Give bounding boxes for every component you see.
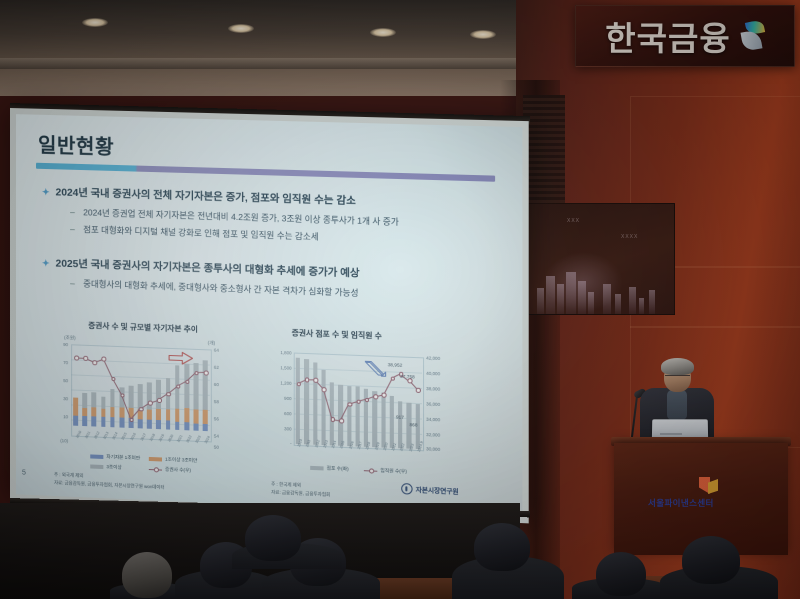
chart-bar [83, 408, 88, 416]
chart-bar [83, 416, 88, 426]
chart-bar [193, 423, 198, 430]
line-marker [348, 402, 353, 407]
legend-swatch [149, 457, 162, 462]
chart-bar [193, 410, 198, 424]
left-chart-ytick: (10) [48, 438, 68, 444]
chart-bar [304, 359, 308, 445]
left-chart-ytick-right: 62 [214, 365, 219, 370]
chart-bar [390, 395, 394, 448]
slide-title: 일반현황 [38, 129, 114, 160]
swoosh-logo-icon [739, 21, 765, 51]
right-chart-data-label: 38,952 [388, 362, 403, 368]
chart-bar [381, 392, 385, 448]
left-chart-unit-left: (조원) [64, 335, 76, 341]
right-chart-ytick: 1,200 [271, 380, 292, 386]
chart-bar [147, 410, 152, 420]
right-chart-ytick-right: 40,000 [426, 371, 440, 377]
left-chart-ytick: 90 [52, 342, 68, 348]
chart-bar [83, 393, 88, 409]
audience-head [596, 552, 646, 596]
right-chart-ytick: 1,500 [271, 365, 292, 371]
dash-bullet-icon: – [70, 278, 83, 288]
banner-title: 한국금융 [605, 12, 730, 60]
chair [370, 578, 460, 599]
ceiling-light [228, 24, 254, 33]
left-chart-ytick-right: 54 [214, 433, 219, 438]
chart-bar [73, 416, 78, 426]
chart-bar [184, 364, 189, 409]
right-chart-ytick: 900 [271, 395, 292, 401]
institute-logo-text: 자본시장연구원 [416, 485, 459, 496]
chart-bar [138, 419, 143, 428]
right-chart-ytick: 1,800 [271, 350, 292, 356]
chart-bar [166, 420, 171, 429]
legend-line-swatch [364, 470, 377, 472]
chart-bar [175, 409, 180, 422]
chart-bar [101, 409, 106, 417]
line-marker [157, 398, 162, 403]
chart-bar [138, 384, 143, 410]
chart-bar [184, 422, 189, 430]
venue-banner: 한국금융 [575, 5, 795, 67]
chart-bar [73, 398, 78, 416]
left-chart-legend-item: 자기자본 1조미만 [90, 453, 140, 461]
chart-bar [184, 408, 189, 422]
audience-head [474, 523, 530, 571]
right-chart-ytick-right: 38,000 [426, 386, 440, 392]
right-chart-ytick: 300 [271, 426, 292, 432]
speaker-glasses [665, 375, 690, 381]
left-chart-ytick-right: 50 [214, 445, 219, 450]
line-marker [390, 376, 395, 381]
left-chart-ytick: 70 [52, 360, 68, 366]
right-chart-ytick-right: 30,000 [426, 446, 440, 452]
cityscape-graphic [529, 256, 674, 314]
chart-bar [92, 416, 97, 426]
speaker-shirt [667, 390, 687, 420]
line-marker [93, 360, 98, 365]
line-marker [416, 388, 421, 393]
chart-bar [355, 386, 359, 446]
presentation-slide: 일반현황 ✦2024년 국내 증권사의 전체 자기자본은 증가, 점포와 임직원… [16, 114, 522, 517]
left-chart-ytick-right: 58 [214, 399, 219, 404]
right-chart-legend-item: 임직원 수(우) [364, 467, 407, 475]
chart-bar [147, 420, 152, 429]
right-footnote: 주 : 한국계 제외 [271, 481, 301, 489]
right-source: 자료: 금융감독원, 금융투자협회 [271, 489, 330, 498]
line-marker [74, 356, 79, 361]
chart-bar [398, 401, 402, 448]
left-chart-title: 증권사 수 및 규모별 자기자본 추이 [88, 320, 198, 335]
legend-swatch [310, 466, 323, 471]
audience-head [682, 536, 740, 584]
ceiling-vent [523, 95, 565, 215]
line-marker [373, 394, 378, 399]
right-chart-ytick-right: 34,000 [426, 417, 440, 423]
left-chart-ytick-right: 60 [214, 382, 219, 387]
line-marker [339, 419, 344, 424]
chart-bar [119, 408, 124, 418]
chart-bar [129, 385, 134, 408]
legend-swatch [90, 464, 103, 469]
right-chart-title: 증권사 점포 수 및 임직원 수 [292, 327, 382, 341]
chart-bar [110, 407, 115, 417]
line-marker [382, 392, 387, 397]
chart-bar [156, 420, 161, 429]
bullet-level1: ✦2024년 국내 증권사의 전체 자기자본은 증가, 점포와 임직원 수는 감… [42, 183, 356, 207]
ceiling-light [470, 30, 496, 39]
dash-bullet-icon: – [70, 224, 83, 234]
bullet-level2: –중대형사의 대형화 추세에, 중대형사와 중소형사 간 자본 격차가 심화할 … [70, 277, 358, 299]
title-rule [36, 163, 495, 182]
podium-logo-icon [699, 477, 718, 495]
chart-bar [110, 417, 115, 427]
left-chart-ytick-right: 56 [214, 416, 219, 421]
chart-bar [101, 417, 106, 427]
right-chart-ytick: 600 [271, 410, 292, 416]
conference-room-photo: XXX XXXX 한국금융 일반현황 [0, 0, 800, 599]
legend-swatch [90, 454, 103, 459]
page-number: 5 [22, 470, 26, 477]
left-chart-ytick-right: 64 [214, 348, 219, 353]
left-chart-legend-item: 증권사 수(우) [149, 466, 191, 474]
right-chart-ytick-right: 32,000 [426, 432, 440, 438]
line-marker [166, 392, 171, 397]
podium-logo-text: 서울파이낸스센터 [648, 497, 714, 509]
chart-bar [313, 362, 317, 445]
ceiling-beam [0, 58, 560, 69]
bullet-level2: –점포 대형화와 디지털 채널 강화로 인해 점포 및 임직원 수는 감소세 [70, 223, 319, 243]
chart-bar [203, 360, 208, 410]
diamond-bullet-icon: ✦ [42, 187, 50, 198]
chart-bar [373, 391, 377, 447]
institute-logo-icon [401, 483, 412, 495]
chart-bar [92, 392, 97, 408]
ceiling-light [82, 18, 108, 27]
bullet-level1: ✦2025년 국내 증권사의 자기자본은 종투사의 대형화 추세에 증가가 예상 [42, 254, 360, 280]
chart-bar [193, 362, 198, 409]
secondary-display: XXX XXXX [528, 203, 675, 315]
diamond-bullet-icon: ✦ [42, 258, 50, 269]
institute-logo: 자본시장연구원 [401, 483, 458, 497]
chart-bar [296, 358, 300, 444]
right-chart-legend-item: 점포 수(좌) [310, 465, 348, 473]
left-source: 자료: 금융감독원, 금융투자협회, 자본시장연구원 won데이터 [54, 480, 165, 491]
left-chart-unit-right: (개) [208, 340, 215, 346]
chart-bar [119, 418, 124, 428]
left-footnote: 주 : 외국계 제외 [54, 472, 83, 480]
right-chart-ytick-right: 36,000 [426, 401, 440, 407]
chart-bar [203, 424, 208, 431]
line-marker [330, 417, 335, 422]
chart-bar [92, 407, 97, 416]
right-chart-ytick: - [271, 440, 292, 446]
chart-bar [166, 409, 171, 420]
chart-bar [321, 370, 325, 445]
projection-screen: 일반현황 ✦2024년 국내 증권사의 전체 자기자본은 증가, 점포와 임직원… [10, 108, 529, 523]
dash-bullet-icon: – [70, 207, 83, 217]
right-chart-ytick-right: 42,000 [426, 355, 440, 361]
right-chart-data-label: 917 [396, 414, 404, 419]
line-marker [322, 387, 327, 392]
left-chart-legend-item: 1조이상 3조미만 [149, 456, 197, 464]
right-chart-data-label: 868 [409, 422, 417, 427]
chart-bar [175, 422, 180, 430]
line-marker [148, 401, 153, 406]
line-marker [204, 370, 209, 375]
right-chart-trend-arrow-icon [364, 360, 387, 377]
chart-bar [110, 389, 115, 407]
left-chart-ytick: 30 [52, 396, 68, 402]
chart-bar [347, 386, 351, 447]
line-marker [313, 378, 318, 383]
chart-bar [101, 397, 106, 409]
audience-head [245, 515, 301, 561]
left-chart-legend-item: 3조이상 [90, 463, 122, 470]
right-chart-data-label: 37,758 [400, 374, 415, 380]
chart-bar [156, 380, 161, 409]
chart-bar [203, 410, 208, 424]
legend-line-swatch [149, 469, 162, 471]
line-marker [102, 357, 107, 362]
chart-bar [147, 382, 152, 409]
speaker-hair [661, 358, 694, 375]
audience-head [122, 552, 172, 598]
left-chart-trend-arrow-icon [168, 351, 194, 366]
chart-bar [156, 409, 161, 420]
left-chart-ytick: 10 [52, 414, 68, 420]
ceiling-light [370, 28, 396, 37]
line-marker [83, 356, 88, 361]
left-chart-ytick: 50 [52, 378, 68, 384]
line-marker [139, 407, 144, 412]
